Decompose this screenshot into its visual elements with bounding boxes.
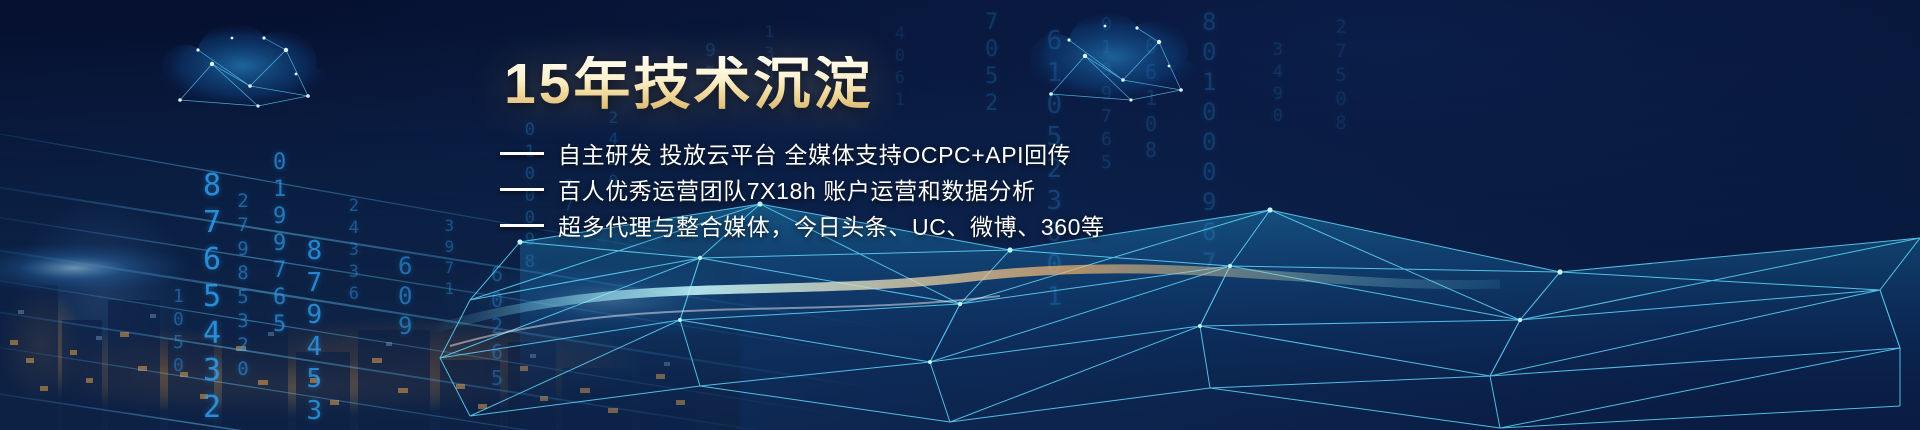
banner-bullet-item: 超多代理与整合媒体，今日头条、UC、微博、360等 (500, 207, 1400, 243)
banner-bullet-text: 百人优秀运营团队7X18h 账户运营和数据分析 (558, 172, 1036, 206)
banner-bullet-item: 自主研发 投放云平台 全媒体支持OCPC+API回传 (500, 135, 1400, 171)
cloud-constellation-left-icon (140, 4, 350, 144)
dash-marker-icon (500, 188, 544, 191)
dash-marker-icon (500, 224, 544, 227)
banner-bullet-text: 超多代理与整合媒体，今日头条、UC、微博、360等 (558, 208, 1105, 242)
hero-banner: 8765432109 27985320 0199765 879453 24336… (0, 0, 1920, 430)
banner-headline: 15年技术沉淀 (504, 56, 1400, 113)
banner-bullet-item: 百人优秀运营团队7X18h 账户运营和数据分析 (500, 171, 1400, 207)
banner-bullet-list: 自主研发 投放云平台 全媒体支持OCPC+API回传 百人优秀运营团队7X18h… (500, 135, 1400, 243)
dash-marker-icon (500, 152, 544, 155)
banner-copy: 15年技术沉淀 自主研发 投放云平台 全媒体支持OCPC+API回传 百人优秀运… (500, 56, 1400, 243)
banner-bullet-text: 自主研发 投放云平台 全媒体支持OCPC+API回传 (558, 136, 1071, 170)
